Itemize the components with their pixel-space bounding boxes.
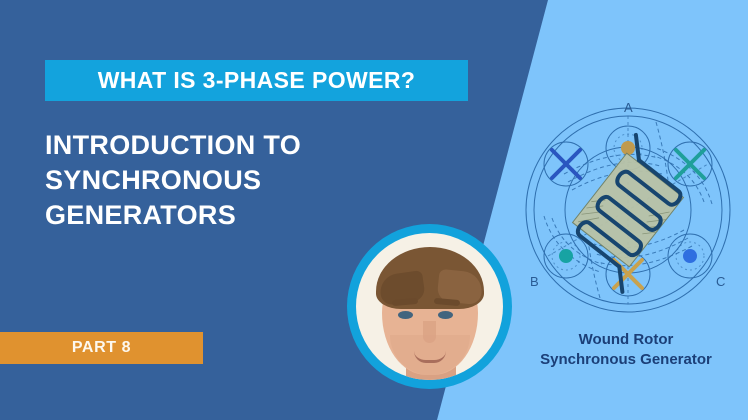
avatar-nose	[423, 321, 436, 343]
diagram-caption: Wound Rotor Synchronous Generator	[508, 330, 744, 370]
eyebrow-label: WHAT IS 3-PHASE POWER?	[98, 67, 416, 94]
diagram-caption-line-1: Wound Rotor	[508, 330, 744, 350]
slide-canvas: WHAT IS 3-PHASE POWER? INTRODUCTION TO S…	[0, 0, 748, 420]
page-title: INTRODUCTION TO SYNCHRONOUS GENERATORS	[45, 128, 405, 233]
eyebrow-banner: WHAT IS 3-PHASE POWER?	[45, 60, 468, 101]
avatar-photo	[356, 233, 503, 380]
rotor-assembly	[555, 135, 704, 292]
label-phase-c: C	[716, 274, 725, 289]
wound-rotor-generator-diagram: A B C	[508, 88, 748, 328]
label-phase-a: A	[624, 100, 633, 115]
avatar-eye-right	[438, 311, 453, 319]
dot-phase-b	[559, 249, 573, 263]
dot-phase-c	[683, 249, 697, 263]
page-title-line-3: GENERATORS	[45, 198, 405, 233]
avatar	[347, 224, 512, 389]
dot-phase-a	[621, 141, 635, 155]
page-title-line-1: INTRODUCTION TO	[45, 128, 405, 163]
page-title-line-2: SYNCHRONOUS	[45, 163, 405, 198]
avatar-eye-left	[398, 311, 413, 319]
generator-schematic-svg: A B C	[508, 88, 748, 328]
cross-phase-b-return	[552, 150, 580, 178]
part-badge: PART 8	[0, 332, 203, 364]
label-phase-b: B	[530, 274, 539, 289]
part-badge-label: PART 8	[72, 339, 131, 357]
diagram-caption-line-2: Synchronous Generator	[508, 350, 744, 370]
